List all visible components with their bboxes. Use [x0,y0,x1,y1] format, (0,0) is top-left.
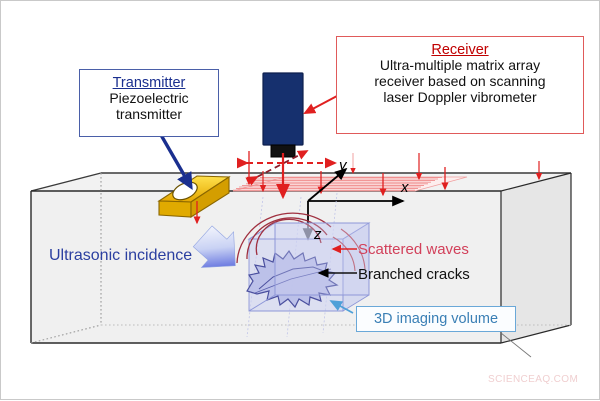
axis-y-label: y [339,157,347,174]
scattered-waves-label: Scattered waves [358,241,469,258]
laser-doppler-head [263,73,303,157]
receiver-callout-line1: Ultra-multiple matrix array [337,58,583,74]
laser-head-body [263,73,303,145]
axis-x-label: x [401,179,409,196]
receiver-leader-arrow [305,96,337,113]
imaging-volume-front-face [275,223,369,295]
watermark: SCIENCEAQ.COM [488,374,578,385]
transmitter-callout-line1: Piezoelectric [80,91,218,107]
transmitter-callout-title: Transmitter [80,75,218,91]
transmitter-callout-line2: transmitter [80,107,218,123]
transmitter-callout[interactable]: Transmitter Piezoelectric transmitter [79,69,219,137]
imaging-volume-label: 3D imaging volume [374,311,498,327]
ultrasonic-incidence-label: Ultrasonic incidence [49,247,192,265]
receiver-callout-line2: receiver based on scanning [337,74,583,90]
receiver-callout[interactable]: Receiver Ultra-multiple matrix array rec… [336,36,584,134]
wedge-front-face [159,201,191,217]
branched-cracks-label: Branched cracks [358,266,470,283]
receiver-callout-title: Receiver [337,42,583,58]
axis-z-label: z [314,226,322,243]
figure-canvas: Transmitter Piezoelectric transmitter Re… [0,0,600,400]
imaging-volume-callout[interactable]: 3D imaging volume [356,306,516,332]
receiver-callout-line3: laser Doppler vibrometer [337,90,583,106]
